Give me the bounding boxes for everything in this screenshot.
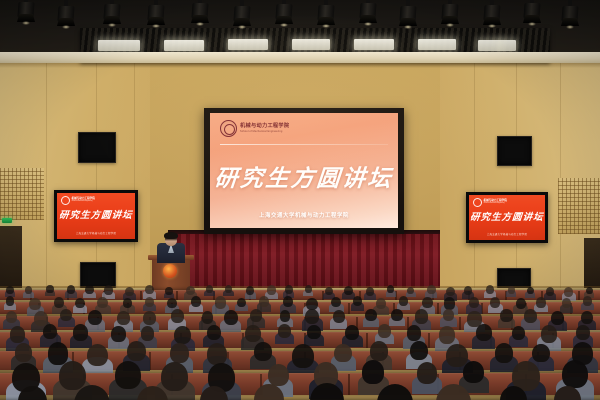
stage-spotlight (276, 0, 292, 26)
audience-head (486, 285, 494, 294)
audience-head (562, 360, 588, 388)
stage-spotlight (18, 0, 34, 24)
wall-seam (96, 60, 97, 290)
audience-head (67, 285, 75, 294)
stage-spotlight (442, 0, 458, 26)
audience-head (48, 342, 69, 364)
side-screen-title-right: 研究生方圆讲坛 (469, 209, 545, 223)
audience-head (407, 287, 414, 294)
audience-head (278, 324, 291, 338)
seat-divider (459, 317, 461, 330)
audience-head (143, 311, 156, 325)
stage-spotlight (104, 0, 120, 26)
audience-head (564, 287, 573, 297)
audience-head (427, 285, 435, 294)
audience-head (464, 286, 472, 295)
audience-head (215, 296, 227, 308)
seat-divider (366, 333, 368, 348)
audience-head (469, 297, 480, 309)
audience-head (391, 309, 402, 321)
audience-head (246, 286, 254, 295)
audience-head (446, 344, 467, 367)
speaker-hair (164, 232, 178, 239)
audience-head (225, 285, 232, 293)
stage-spotlight (484, 0, 500, 27)
side-logo-right: 机械与动力工程学院 School of Mechanical Engineeri… (473, 198, 507, 207)
audience-head (581, 311, 593, 324)
side-screen-left: 机械与动力工程学院 School of Mechanical Engineeri… (57, 193, 135, 239)
audience-head (387, 285, 394, 293)
wall-speaker-box (497, 136, 532, 166)
audience-head (376, 298, 387, 309)
audience-head (562, 298, 571, 308)
stage-spotlight (318, 0, 334, 27)
screen-logo: 机械与动力工程学院 School of Mechanical Engineeri… (220, 120, 289, 137)
audience-head (576, 325, 590, 340)
auditorium-scene: 机械与动力工程学院 School of Mechanical Engineeri… (0, 0, 600, 400)
audience-head (586, 287, 593, 295)
audience-head (407, 325, 422, 341)
audience-head (171, 309, 184, 323)
audience-head (305, 309, 319, 324)
audience-head (378, 324, 391, 338)
ceiling-light (354, 39, 394, 50)
side-screen-subtitle-right: 上海交通大学机械与动力工程学院 (469, 232, 545, 236)
side-screen-subtitle-left: 上海交通大学机械与动力工程学院 (57, 231, 135, 235)
audience-head (145, 297, 154, 307)
acoustic-panel-left (0, 168, 44, 220)
audience-head (333, 310, 345, 323)
audience-head (345, 325, 359, 340)
wall-seam (560, 60, 561, 290)
audience-head (362, 360, 384, 384)
audience-head (73, 324, 88, 340)
audience-head (141, 326, 155, 341)
audience-head (399, 296, 408, 306)
stage-spotlight (148, 0, 164, 27)
audience-head (161, 362, 188, 391)
projection-screen-frame: 机械与动力工程学院 School of Mechanical Engineeri… (204, 108, 404, 234)
audience-head (245, 325, 261, 342)
audience-head (280, 310, 291, 322)
audience-head (224, 310, 238, 326)
audience-head (583, 296, 592, 305)
ceiling-light (478, 40, 516, 51)
wall-seam (46, 60, 47, 290)
audience-head (206, 285, 213, 293)
side-logo-left: 机械与动力工程学院 School of Mechanical Engineeri… (61, 196, 95, 205)
audience-head (365, 309, 377, 321)
screen-title: 研究生方圆讲坛 (210, 159, 398, 193)
side-screen-right-frame: 机械与动力工程学院 School of Mechanical Engineeri… (466, 192, 548, 243)
side-logo-en: School of Mechanical Engineering (72, 201, 95, 202)
audience-head (29, 298, 41, 310)
audience-head (527, 287, 534, 295)
stage-spotlight (400, 0, 416, 28)
sjtu-seal-icon (473, 198, 482, 207)
seat-divider (140, 291, 142, 300)
audience-head (127, 341, 146, 361)
audience-head (60, 309, 72, 322)
audience-head (191, 296, 201, 307)
audience-head (10, 326, 26, 343)
audience-head (15, 343, 32, 362)
audience-head (174, 326, 191, 344)
ceiling-light (228, 39, 268, 50)
audience-head (476, 324, 492, 341)
audience-head (307, 325, 321, 340)
stage-spotlight (58, 0, 74, 28)
wall-speaker-box (78, 132, 116, 163)
audience-head (207, 343, 227, 365)
audience-head (516, 298, 526, 309)
wall-seam (474, 60, 475, 295)
audience-head (237, 298, 246, 308)
ceiling-light (292, 39, 330, 50)
projection-screen: 机械与动力工程学院 School of Mechanical Engineeri… (210, 113, 398, 228)
audience-head (43, 324, 57, 339)
soffit-shadow (0, 63, 600, 68)
audience-head (370, 341, 388, 361)
audience-head (123, 298, 133, 308)
ceiling-light (164, 40, 204, 51)
audience-head (490, 297, 500, 308)
screen-logo-en: School of Mechanical Engineering (240, 131, 289, 134)
ceiling-soffit (0, 52, 600, 63)
audience-head (292, 344, 314, 368)
seat-divider (348, 303, 350, 314)
audience-head (415, 309, 428, 323)
audience-head (75, 298, 85, 309)
audience-head (444, 297, 455, 309)
audience-head (115, 361, 141, 389)
audience-head (325, 287, 333, 296)
audience-head (250, 309, 262, 322)
audience-head (85, 285, 93, 294)
seat-divider (348, 374, 350, 395)
ceiling-light (98, 40, 140, 51)
audience-head (267, 285, 276, 294)
audience-head (508, 286, 515, 294)
audience-head (417, 362, 437, 384)
audience-head (532, 344, 549, 363)
sjtu-seal-icon (61, 196, 70, 205)
audience-head (59, 361, 86, 390)
audience-head (353, 296, 362, 306)
audience-head (125, 287, 134, 296)
audience-head (551, 311, 564, 325)
screen-divider (220, 144, 388, 145)
stage-spotlight (234, 0, 250, 28)
sjtu-seal-icon (220, 120, 237, 137)
side-screen-left-frame: 机械与动力工程学院 School of Mechanical Engineeri… (54, 190, 138, 242)
side-logo-en: School of Mechanical Engineering (484, 203, 507, 204)
screen-subtitle: 上海交通大学机械与动力工程学院 (210, 211, 398, 219)
audience-head (439, 326, 456, 344)
audience-head (500, 309, 512, 322)
audience-head (88, 310, 102, 325)
wall-seam (516, 60, 517, 290)
audience-area (0, 284, 600, 400)
audience-head (104, 285, 113, 294)
audience-head (186, 286, 195, 296)
stage-spotlight (360, 0, 376, 25)
seat-divider (428, 333, 430, 348)
audience-head (170, 343, 189, 363)
audience-head (145, 285, 154, 294)
doorway-left[interactable] (0, 226, 22, 292)
audience-head (344, 286, 353, 295)
stage-spotlight (562, 0, 578, 28)
stage-spotlight (192, 0, 208, 25)
audience-head (117, 311, 130, 325)
audience-head (165, 287, 172, 295)
audience-head (167, 298, 177, 308)
audience-head (6, 311, 18, 323)
audience-head (305, 285, 312, 293)
audience-head (207, 325, 221, 340)
screen-logo-cn: 机械与动力工程学院 (240, 124, 289, 129)
exit-icon (2, 218, 12, 223)
audience-head (111, 326, 125, 342)
audience-head (334, 344, 351, 363)
audience-head (524, 309, 537, 323)
audience-head (87, 344, 108, 367)
audience-head (495, 343, 514, 363)
audience-head (536, 297, 546, 307)
acoustic-panel-right (558, 178, 600, 234)
audience-head (541, 325, 558, 343)
audience-head (422, 297, 433, 308)
audience-head (6, 296, 15, 305)
audience-head (366, 287, 374, 296)
wall-seam (134, 60, 135, 295)
ceiling-light (418, 39, 456, 50)
audience-head (512, 326, 525, 340)
audience-head (268, 364, 289, 386)
side-screen-right: 机械与动力工程学院 School of Mechanical Engineeri… (469, 195, 545, 240)
seat-divider (176, 291, 178, 300)
audience-head (254, 342, 272, 361)
audience-head (283, 296, 293, 307)
audience-head (410, 341, 428, 360)
audience-head (6, 286, 13, 294)
side-screen-title-left: 研究生方圆讲坛 (57, 207, 135, 221)
audience-head (202, 311, 214, 324)
stage-spotlight (524, 0, 540, 25)
seat-divider (578, 291, 580, 300)
audience-head (546, 287, 555, 296)
audience-head (46, 285, 53, 293)
audience-head (443, 309, 455, 322)
seat-divider (437, 303, 439, 314)
audience-head (285, 285, 293, 293)
audience-head (259, 296, 269, 307)
sjtu-crest-icon (163, 264, 177, 278)
audience-head (463, 361, 484, 383)
